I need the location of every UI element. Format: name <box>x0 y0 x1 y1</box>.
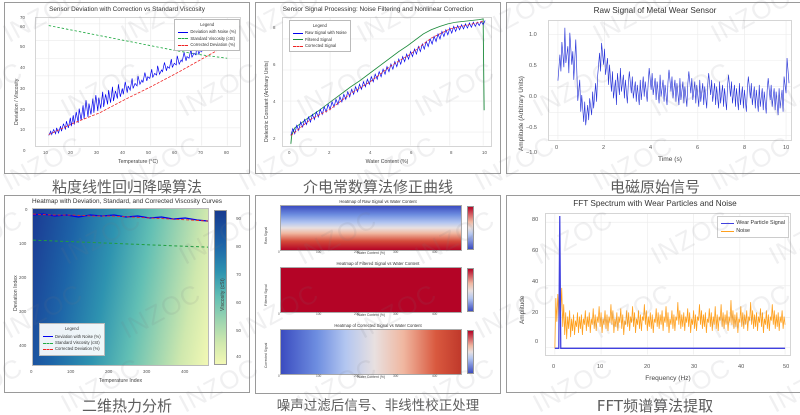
chart-title: Sensor Signal Processing: Noise Filterin… <box>256 6 500 13</box>
panel-thermal-heatmap: Heatmap with Deviation, Standard, and Co… <box>4 195 250 414</box>
chart-legend: Legend Deviation with Noise (%) Standard… <box>174 19 240 51</box>
subplot-y-label: Filtered Signal <box>264 284 268 306</box>
colorbar <box>467 330 474 374</box>
heatmap-gradient <box>281 206 461 250</box>
x-axis-label: Water Content (%) <box>282 159 492 165</box>
panel-caption: FFT频谱算法提取 <box>597 393 713 415</box>
legend-title: Legend <box>178 22 236 28</box>
heatmap-area <box>280 267 462 313</box>
legend-item: Wear Particle Signal <box>721 219 785 227</box>
plot-area <box>548 20 792 141</box>
panel-raw-wear-signal: Raw Signal of Metal Wear Sensor <box>506 2 800 195</box>
figure-raw-wear-signal: Raw Signal of Metal Wear Sensor <box>506 2 800 174</box>
y-axis-label: Amplitude (Arbitrary Units) <box>518 76 525 151</box>
legend-title: Legend <box>43 326 101 332</box>
panel-caption: 二维热力分析 <box>82 393 172 415</box>
legend-item: Corrected Signal <box>293 43 347 49</box>
subplot-title: Heatmap of Filtered Signal vs Water Cont… <box>256 261 500 266</box>
heatmap-gradient <box>281 268 461 312</box>
colorbar <box>467 206 474 250</box>
legend-title: Legend <box>293 23 347 29</box>
figure-signal-heatmaps: Heatmap of Raw Signal vs Water Content R… <box>255 195 501 394</box>
figure-dielectric-correction: Sensor Signal Processing: Noise Filterin… <box>255 2 501 174</box>
chart-title: Raw Signal of Metal Wear Sensor <box>507 6 800 15</box>
x-axis-label: Time (s) <box>548 156 792 163</box>
plot-svg <box>549 21 791 140</box>
panel-caption: 介电常数算法修正曲线 <box>303 174 453 196</box>
legend-label: Noise <box>736 227 750 235</box>
panel-fft-spectrum: FFT Spectrum with Wear Particles and Noi… <box>506 195 800 414</box>
legend-item: Corrected Deviation (%) <box>178 42 236 48</box>
heatmap-area <box>280 205 462 251</box>
chart-title: Heatmap with Deviation, Standard, and Co… <box>5 198 249 205</box>
x-axis-label: Frequency (Hz) <box>545 375 791 382</box>
heatmap-area: Legend Deviation with Noise (%) Standard… <box>32 208 209 366</box>
y-axis-label: Deviation Index <box>13 275 19 311</box>
chart-legend: Legend Raw Signal with Noise Filtered Si… <box>289 20 351 52</box>
panel-caption: 噪声过滤后信号、非线性校正处理 <box>277 394 480 414</box>
panel-dielectric-correction: Sensor Signal Processing: Noise Filterin… <box>255 2 501 195</box>
chart-legend: Wear Particle Signal Noise <box>717 216 789 238</box>
figure-viscosity-regression: Sensor Deviation with Correction vs Stan… <box>4 2 250 174</box>
x-axis-label: Temperature (°C) <box>35 159 241 165</box>
colorbar <box>467 268 474 312</box>
subplot-y-label: Corrected Signal <box>264 343 268 368</box>
figure-grid: Sensor Deviation with Correction vs Stan… <box>0 0 800 412</box>
chart-title: Sensor Deviation with Correction vs Stan… <box>5 6 249 13</box>
panel-caption: 电磁原始信号 <box>610 174 700 196</box>
legend-label: Corrected Deviation (%) <box>190 42 235 48</box>
subplot-title: Heatmap of Raw Signal vs Water Content <box>256 199 500 204</box>
panel-signal-heatmaps: Heatmap of Raw Signal vs Water Content R… <box>255 195 501 414</box>
heatmap-area <box>280 329 462 375</box>
colorbar-label: Viscosity (cSt) <box>220 278 226 311</box>
heatmap-gradient <box>281 330 461 374</box>
x-axis-label: Temperature Index <box>32 378 209 384</box>
figure-thermal-heatmap: Heatmap with Deviation, Standard, and Co… <box>4 195 250 393</box>
panel-caption: 粘度线性回归降噪算法 <box>52 174 202 196</box>
chart-title: FFT Spectrum with Wear Particles and Noi… <box>507 199 800 208</box>
figure-fft-spectrum: FFT Spectrum with Wear Particles and Noi… <box>506 195 800 393</box>
subplot-title: Heatmap of Corrected Signal vs Water Con… <box>256 323 500 328</box>
chart-legend: Legend Deviation with Noise (%) Standard… <box>39 323 105 355</box>
legend-label: Wear Particle Signal <box>736 219 785 227</box>
legend-item: Noise <box>721 227 785 235</box>
panel-viscosity-regression: Sensor Deviation with Correction vs Stan… <box>4 2 250 195</box>
legend-item: Corrected Deviation (%) <box>43 346 101 352</box>
legend-label: Corrected Deviation (%) <box>55 346 100 352</box>
colorbar-label: Raw Signal <box>256 195 260 196</box>
y-axis-label: Dielectric Constant (Arbitrary Units) <box>264 61 270 142</box>
subplot-y-label: Raw Signal <box>264 227 268 244</box>
y-axis-label: Amplitude <box>519 296 526 324</box>
legend-label: Corrected Signal <box>305 43 336 49</box>
